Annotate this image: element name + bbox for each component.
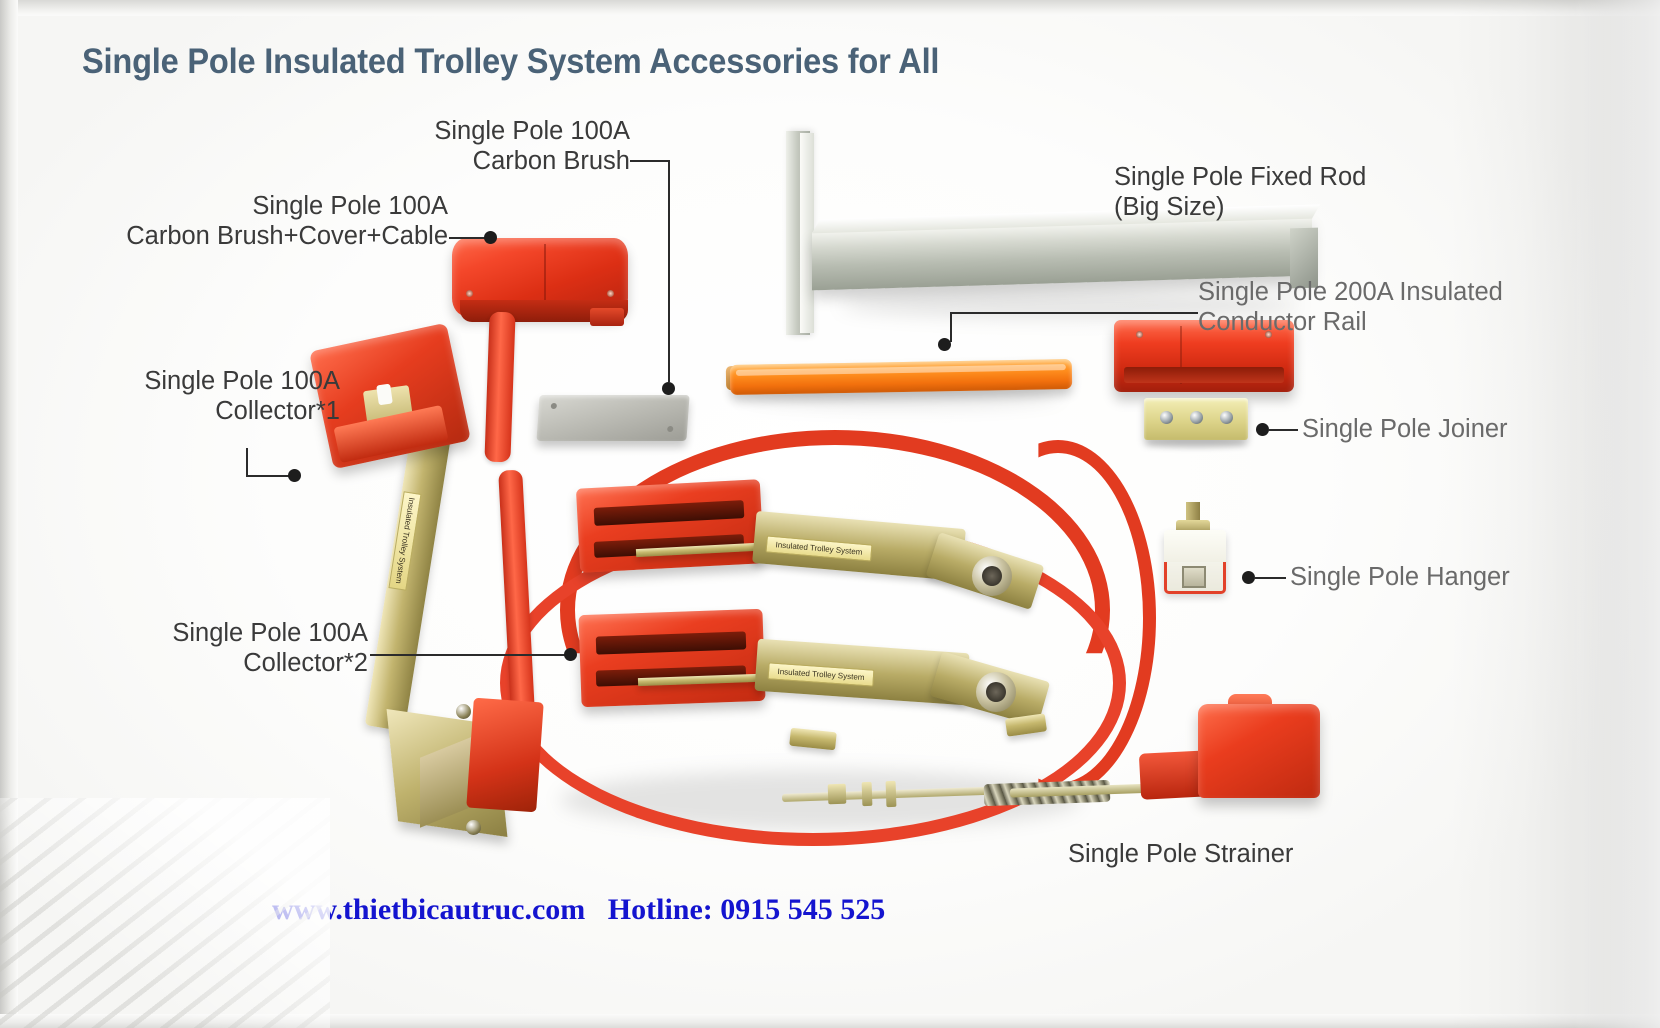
page-curl-highlight <box>1574 0 1660 1028</box>
hanger-insert <box>1182 566 1206 588</box>
leader-hanger-h <box>1254 577 1286 579</box>
strainer-nut-1 <box>828 784 847 805</box>
leader-dot-rail200 <box>938 338 951 351</box>
label-carbon-brush: Single Pole 100A Carbon Brush <box>330 116 630 176</box>
collector-mount-hole-1 <box>456 704 471 719</box>
collector-2-housing <box>578 609 765 707</box>
collector-mount-red-block <box>466 698 544 813</box>
orange-conductor-rail <box>730 359 1072 395</box>
collector-1-housing <box>576 479 764 573</box>
poster-image: Insulated Trolley System Insulated Troll… <box>0 0 1660 1028</box>
leader-carbon-brush-h <box>630 160 670 162</box>
label-carbon-brush-cover-cable: Single Pole 100A Carbon Brush+Cover+Cabl… <box>60 191 448 251</box>
label-fixed-rod: Single Pole Fixed Rod (Big Size) <box>1114 162 1366 222</box>
strainer-washer-2 <box>886 781 897 807</box>
scan-stripes-mask <box>0 798 330 1028</box>
label-collector-2: Single Pole 100A Collector*2 <box>80 618 368 678</box>
carbon-brush-cable <box>484 312 515 463</box>
single-pole-joiner <box>1144 398 1248 440</box>
leader-joiner-h <box>1268 429 1298 431</box>
leader-dot-carbon-brush <box>662 382 675 395</box>
label-collector-1: Single Pole 100A Collector*1 <box>50 366 340 426</box>
leader-rail200-v <box>950 312 952 342</box>
carbon-brush-cover-tab <box>590 308 624 326</box>
collector-2-pivot-hole <box>986 682 1006 702</box>
collector-mount-hole-2 <box>466 820 481 835</box>
leader-dot-collector1 <box>288 469 301 482</box>
leader-collector1-v <box>246 448 248 476</box>
carbon-brush-plate <box>536 395 689 441</box>
label-strainer: Single Pole Strainer <box>1068 839 1293 869</box>
leader-collector1-h <box>246 475 292 477</box>
leader-rail200-h <box>950 312 1198 314</box>
footer-contact: www.thietbicautruc.com Hotline: 0915 545… <box>272 893 885 927</box>
leader-carbon-brush-v <box>668 160 670 382</box>
single-pole-strainer-body <box>1198 704 1320 798</box>
collector-1-pivot-hole <box>982 566 1002 586</box>
leader-dot-cover-cable <box>484 231 497 244</box>
leader-dot-collector2 <box>564 648 577 661</box>
strainer-washer-1 <box>862 782 873 806</box>
leader-collector2-h <box>370 654 568 656</box>
page-title: Single Pole Insulated Trolley System Acc… <box>82 42 939 82</box>
page-edge-top <box>0 0 1660 16</box>
leader-cover-cable-h <box>449 237 489 239</box>
